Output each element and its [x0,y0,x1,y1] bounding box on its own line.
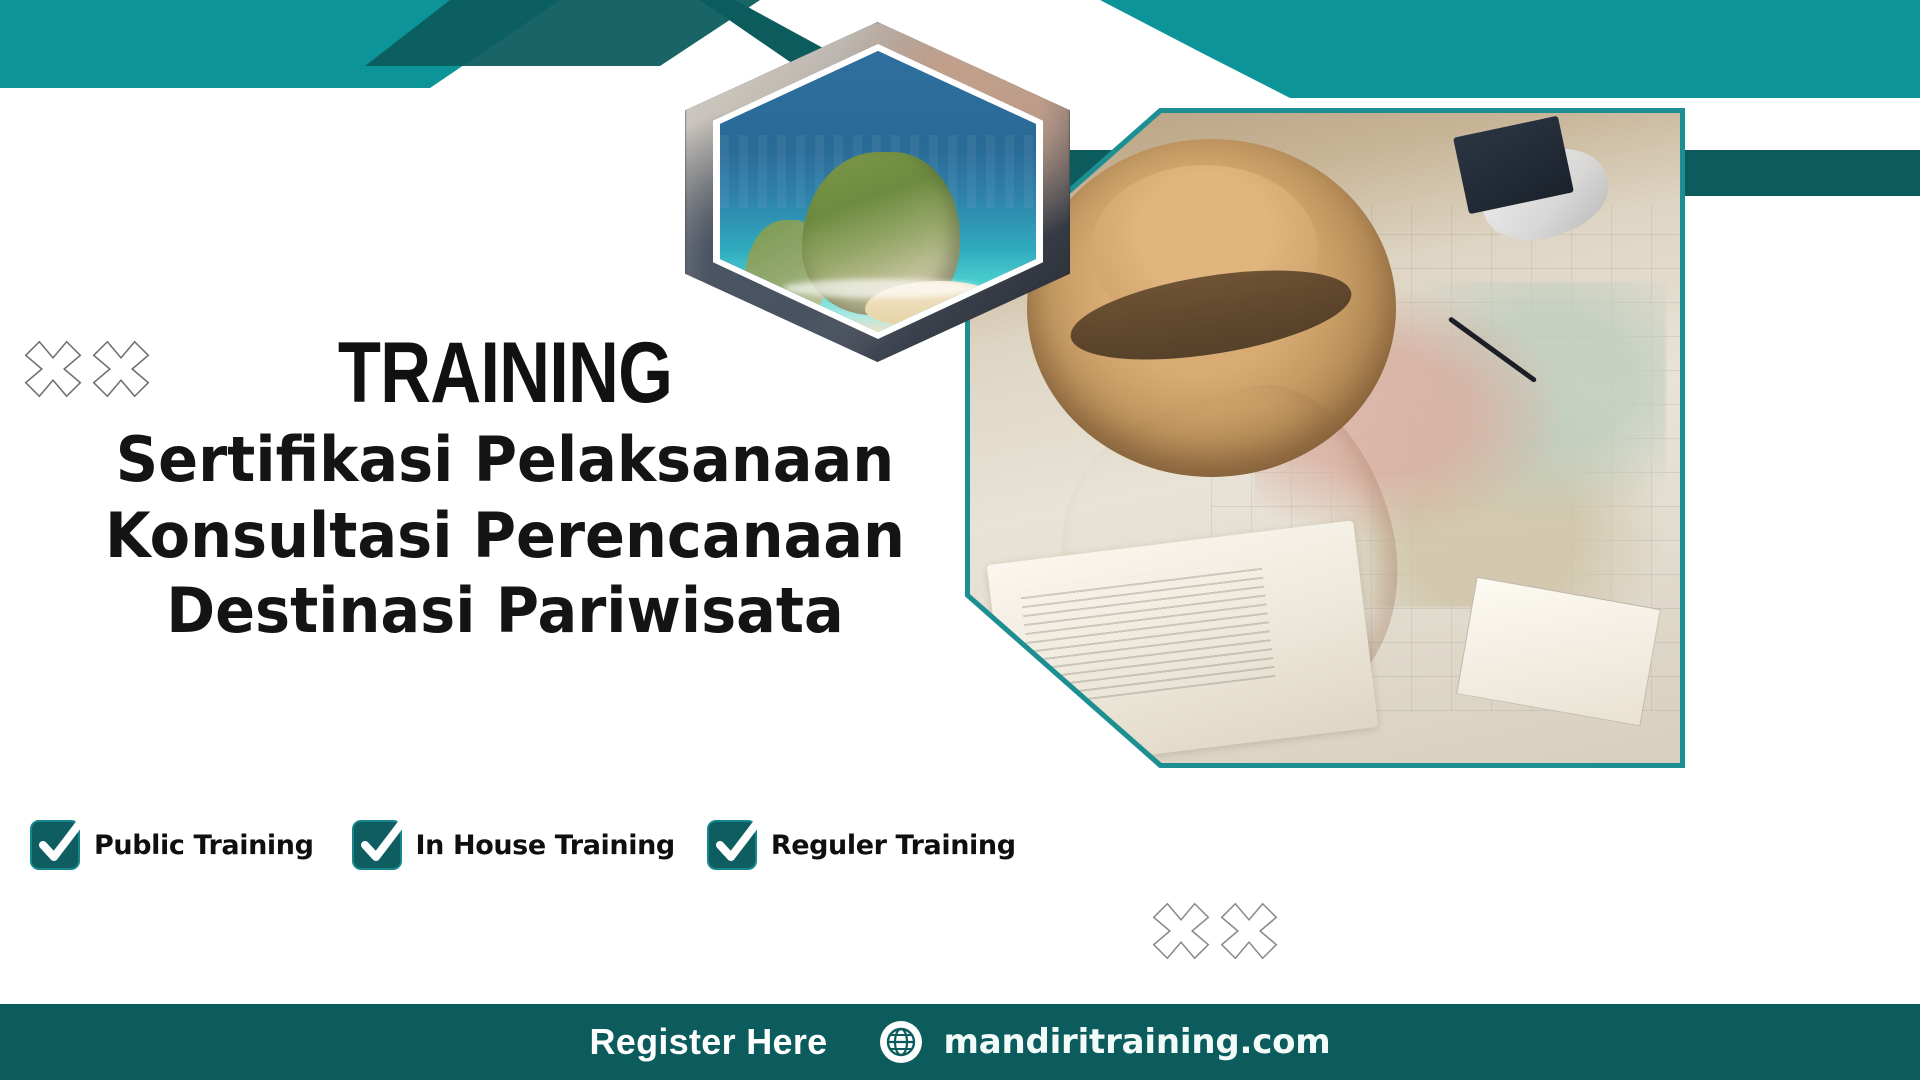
website-link[interactable]: mandiritraining.com [879,1020,1330,1064]
footer-content: Register Here mandiritraining.com [589,1020,1330,1064]
website-url: mandiritraining.com [943,1022,1330,1062]
cross-icon [1218,900,1280,962]
training-option-reguler[interactable]: Reguler Training [707,820,1016,870]
cross-icon [1150,900,1212,962]
checkbox-checked-icon[interactable] [352,820,402,870]
center-hexagon-photo [685,22,1070,362]
training-option-label: In House Training [416,830,675,861]
promo-banner: TRAINING Sertifikasi Pelaksanaan Konsult… [0,0,1920,1080]
travel-planning-image [970,113,1680,763]
title-line-2: Konsultasi Perencanaan [25,498,985,574]
title-line-3: Destinasi Pariwisata [25,573,985,649]
checkbox-checked-icon[interactable] [30,820,80,870]
training-option-in-house[interactable]: In House Training [352,820,675,870]
training-option-public[interactable]: Public Training [30,820,314,870]
globe-icon [879,1020,923,1064]
right-hexagon-photo [965,108,1685,768]
headline-block: TRAINING Sertifikasi Pelaksanaan Konsult… [0,330,1010,649]
register-cta-label[interactable]: Register Here [589,1021,827,1063]
checkbox-checked-icon[interactable] [707,820,757,870]
training-option-label: Reguler Training [771,830,1016,861]
title-line-1: Sertifikasi Pelaksanaan [25,422,985,498]
training-option-label: Public Training [94,830,314,861]
cross-decoration-bottom [1150,900,1280,962]
footer-bar: Register Here mandiritraining.com [0,1004,1920,1080]
training-options-row: Public Training In House Training Regule… [30,820,1016,870]
surf-layer [783,279,979,299]
eyebrow-training: TRAINING [91,330,919,416]
